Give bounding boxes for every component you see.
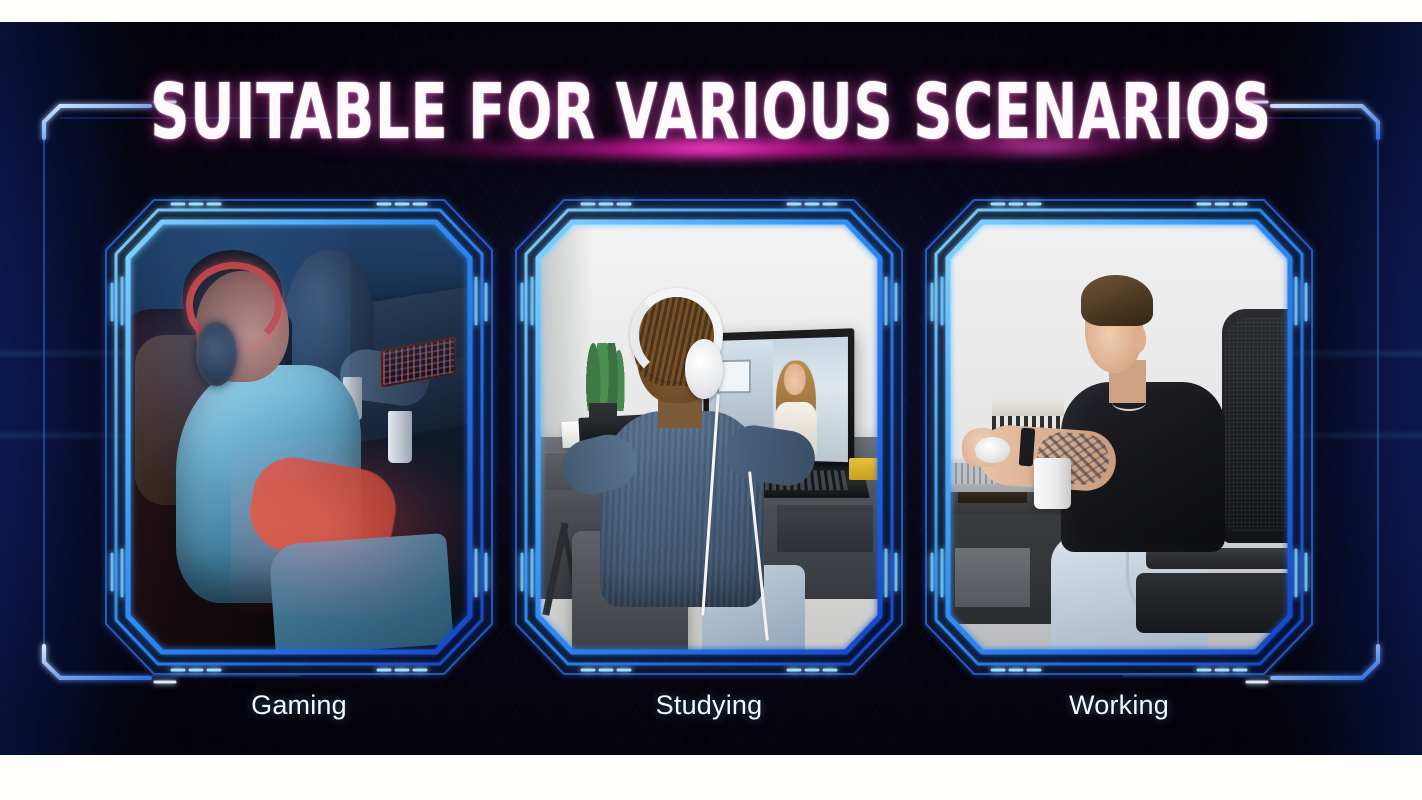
page-title: SUITABLE FOR VARIOUS SCENARIOS [150, 69, 1272, 157]
scenario-panel-working[interactable]: Working [918, 192, 1320, 682]
scenario-panel-gaming[interactable]: Gaming [98, 192, 500, 682]
panel-frame-studying [508, 192, 910, 682]
panel-label-studying: Studying [508, 690, 910, 721]
panel-label-working: Working [918, 690, 1320, 721]
panel-frame-working [918, 192, 1320, 682]
scenario-panel-studying[interactable]: Studying [508, 192, 910, 682]
page-background: SUITABLE FOR VARIOUS SCENARIOS [0, 0, 1422, 800]
panel-frame-gaming [98, 192, 500, 682]
title-block: SUITABLE FOR VARIOUS SCENARIOS [0, 74, 1422, 152]
banner-stage: SUITABLE FOR VARIOUS SCENARIOS [0, 22, 1422, 755]
panel-label-gaming: Gaming [98, 690, 500, 721]
